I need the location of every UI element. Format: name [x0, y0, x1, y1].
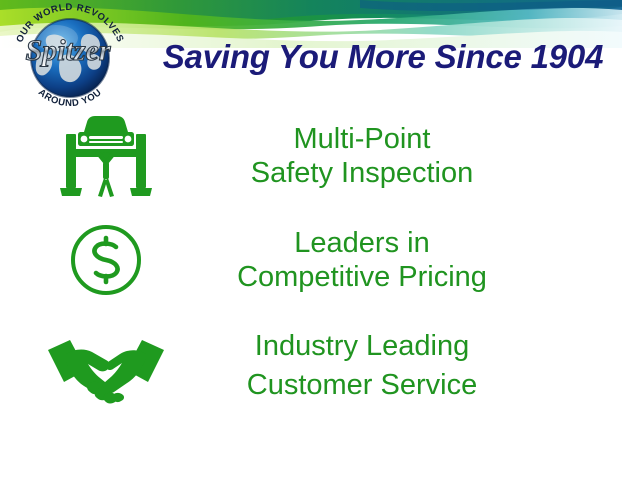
feature-label-line2: Competitive Pricing [212, 260, 512, 294]
feature-row: Industry Leading Customer Service [0, 312, 622, 420]
feature-label-line1: Multi-Point [212, 122, 512, 156]
promo-banner: OUR WORLD REVOLVES AROUND YOU Spitzer Sa… [0, 0, 622, 483]
handshake-icon [0, 324, 212, 408]
page-title: Saving You More Since 1904 [150, 38, 616, 76]
feature-label-line1: Industry Leading [212, 327, 512, 366]
car-lift-icon [0, 110, 212, 202]
feature-label-line2: Customer Service [212, 366, 512, 405]
feature-label: Multi-Point Safety Inspection [212, 122, 622, 190]
dollar-circle-icon [0, 216, 212, 304]
feature-label: Industry Leading Customer Service [212, 327, 622, 405]
spitzer-logo: OUR WORLD REVOLVES AROUND YOU Spitzer [4, 0, 136, 112]
feature-row: Multi-Point Safety Inspection [0, 104, 622, 208]
feature-label-line2: Safety Inspection [212, 156, 512, 190]
feature-list: Multi-Point Safety Inspection Leaders in… [0, 104, 622, 420]
feature-row: Leaders in Competitive Pricing [0, 208, 622, 312]
feature-label: Leaders in Competitive Pricing [212, 226, 622, 294]
feature-label-line1: Leaders in [212, 226, 512, 260]
logo-wordmark: Spitzer [25, 34, 110, 67]
